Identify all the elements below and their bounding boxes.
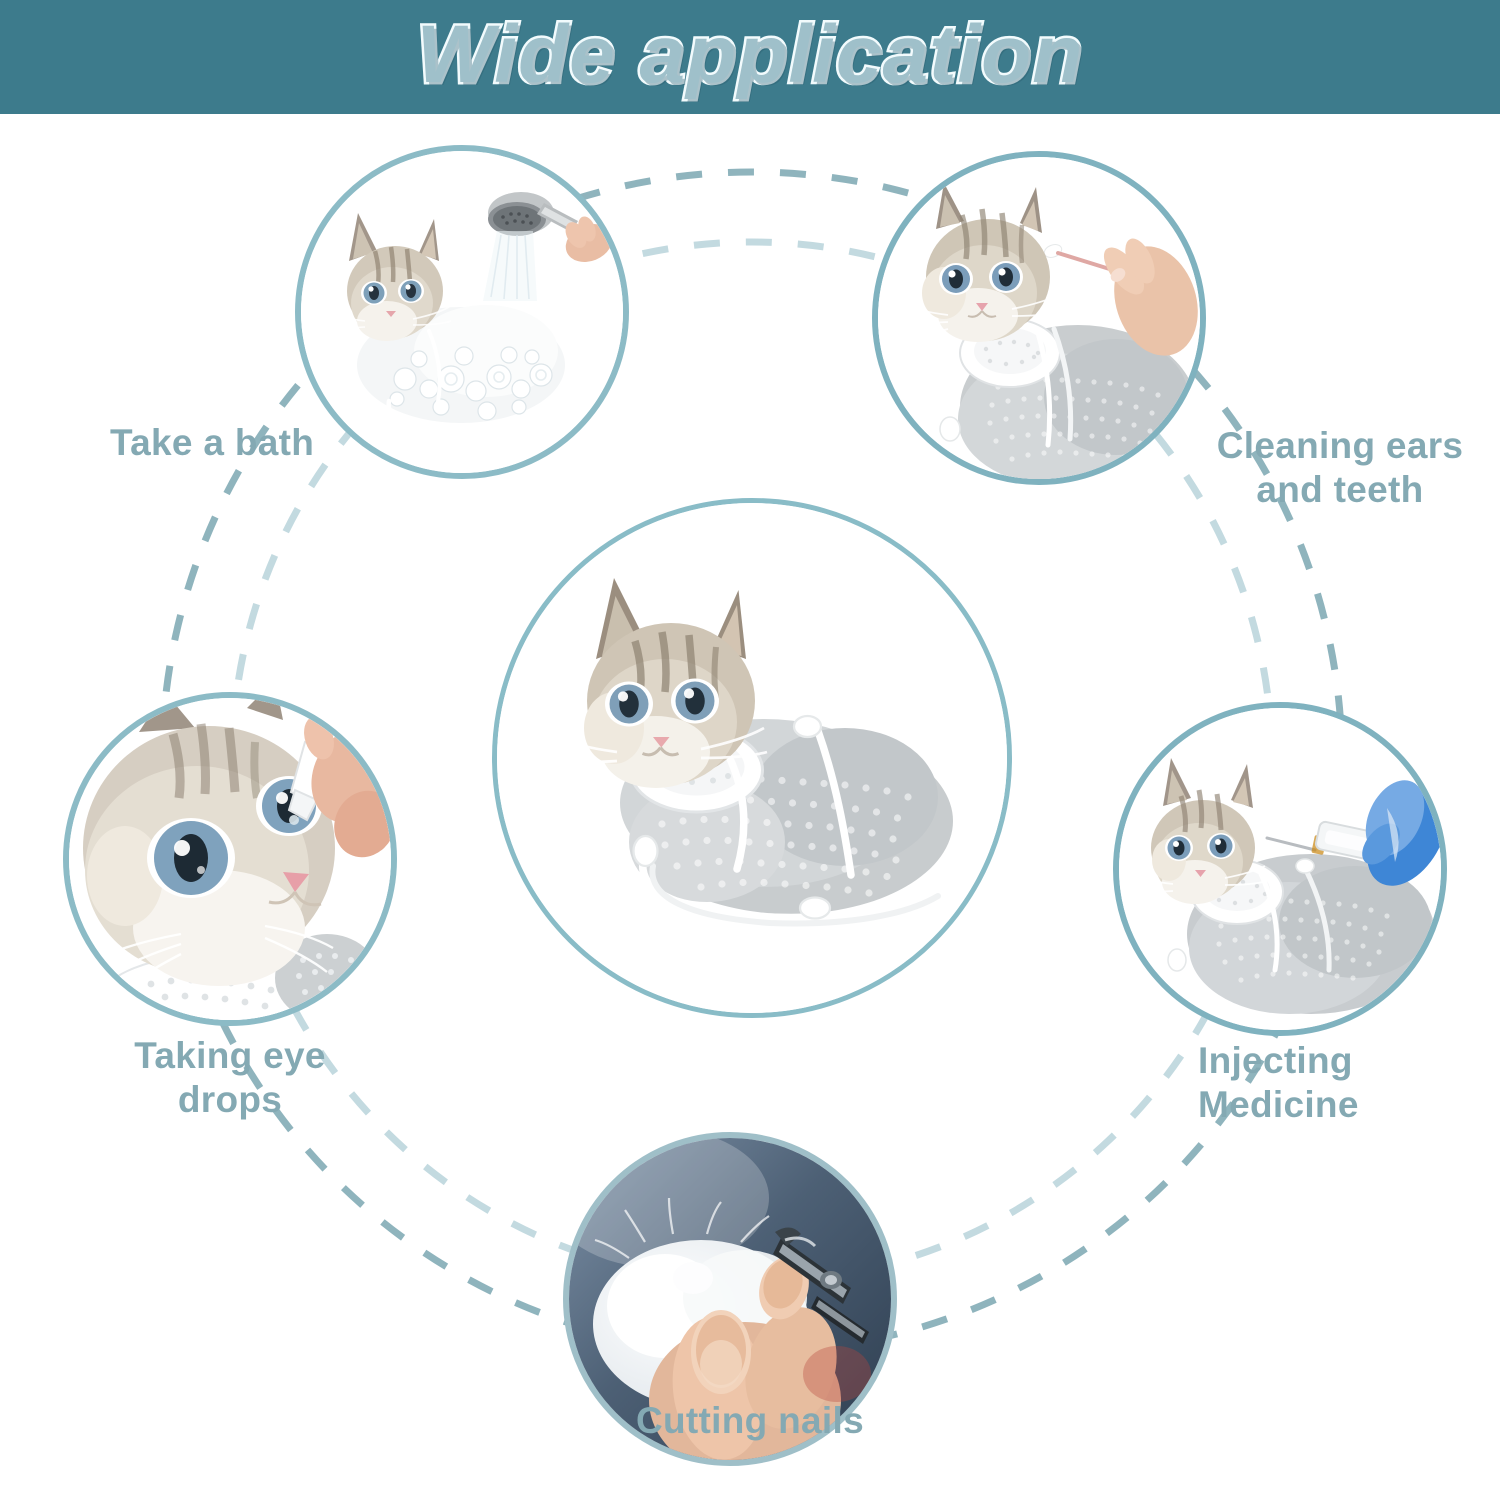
taking-eye-drops-photo xyxy=(69,698,391,1020)
label-line: Take a bath xyxy=(110,421,410,465)
label-take-a-bath: Take a bath xyxy=(110,421,410,465)
label-line: and teeth xyxy=(1190,468,1490,512)
cleaning-ears-photo xyxy=(878,157,1200,479)
label-line: drops xyxy=(80,1078,380,1122)
label-line: Injecting xyxy=(1198,1039,1498,1083)
center-hub-circle[interactable] xyxy=(492,498,1012,1018)
label-taking-eye-drops: Taking eye drops xyxy=(80,1034,380,1121)
label-line: Cleaning ears xyxy=(1190,424,1490,468)
injecting-medicine-photo xyxy=(1119,708,1441,1030)
label-cutting-nails: Cutting nails xyxy=(580,1399,920,1443)
label-cleaning-ears-and-teeth: Cleaning ears and teeth xyxy=(1190,424,1490,511)
label-line: Medicine xyxy=(1198,1083,1498,1127)
label-line: Cutting nails xyxy=(580,1399,920,1443)
label-injecting-medicine: Injecting Medicine xyxy=(1198,1039,1498,1126)
node-taking-eye-drops[interactable] xyxy=(63,692,397,1026)
cat-grooming-bag-photo xyxy=(497,503,1007,1013)
page-title: Wide application xyxy=(417,14,1084,96)
header-banner: Wide application xyxy=(0,0,1500,114)
node-injecting-medicine[interactable] xyxy=(1113,702,1447,1036)
node-cleaning-ears-and-teeth[interactable] xyxy=(872,151,1206,485)
diagram-stage: Take a bath Cleaning ears and teeth Taki… xyxy=(0,114,1500,1488)
label-line: Taking eye xyxy=(80,1034,380,1078)
